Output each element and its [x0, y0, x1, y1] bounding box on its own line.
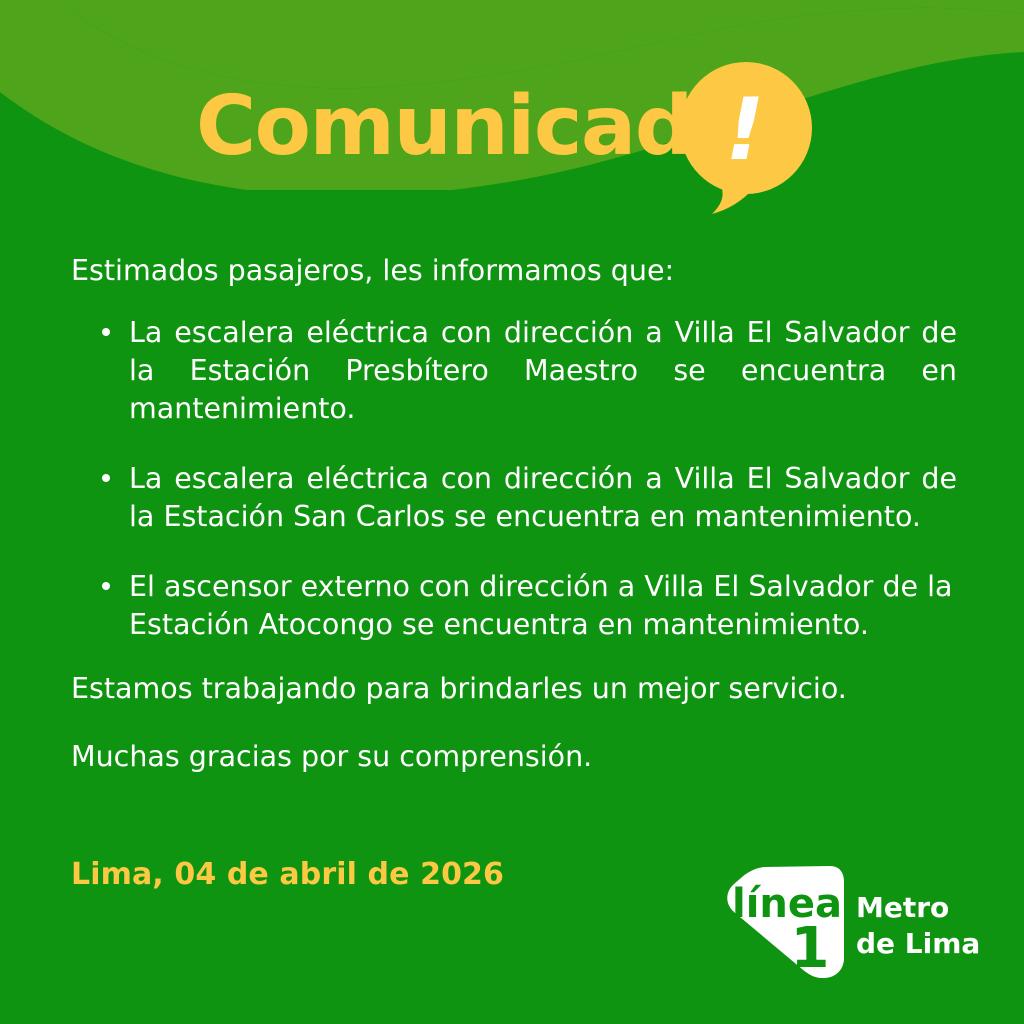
list-item: El ascensor externo con dirección a Vill… — [71, 568, 957, 644]
comunicado-poster: Comunicado ! Estimados pasajeros, les in… — [0, 0, 1024, 1024]
list-item-text: El ascensor externo con dirección a Vill… — [129, 570, 953, 641]
closing-paragraph-2: Muchas gracias por su comprensión. — [71, 738, 957, 776]
bullet-dot-icon — [102, 328, 110, 336]
bullet-dot-icon — [102, 582, 110, 590]
logo-wordmark: Metro de Lima — [856, 890, 980, 962]
logo-wordmark-line1: Metro — [856, 891, 949, 924]
list-item-text: La escalera eléctrica con dirección a Vi… — [129, 462, 957, 533]
intro-paragraph: Estimados pasajeros, les informamos que: — [71, 252, 957, 290]
list-item: La escalera eléctrica con dirección a Vi… — [71, 314, 957, 428]
maintenance-list: La escalera eléctrica con dirección a Vi… — [71, 314, 957, 644]
exclamation-speech-bubble-icon: ! — [672, 62, 820, 220]
closing-paragraph-1: Estamos trabajando para brindarles un me… — [71, 670, 957, 708]
list-item-text: La escalera eléctrica con dirección a Vi… — [129, 316, 957, 425]
poster-header: Comunicado ! — [0, 62, 1024, 212]
page-title: Comunicado — [196, 86, 747, 168]
logo-wordmark-line2: de Lima — [856, 926, 980, 962]
date-line: Lima, 04 de abril de 2026 — [71, 857, 504, 892]
linea1-metro-de-lima-logo: línea 1 Metro de Lima — [722, 862, 972, 982]
list-item: La escalera eléctrica con dirección a Vi… — [71, 460, 957, 536]
logo-number-1: 1 — [791, 916, 830, 981]
announcement-body: Estimados pasajeros, les informamos que:… — [71, 252, 957, 775]
linea1-triangle-logo-icon: línea 1 — [722, 862, 847, 982]
bullet-dot-icon — [102, 474, 110, 482]
